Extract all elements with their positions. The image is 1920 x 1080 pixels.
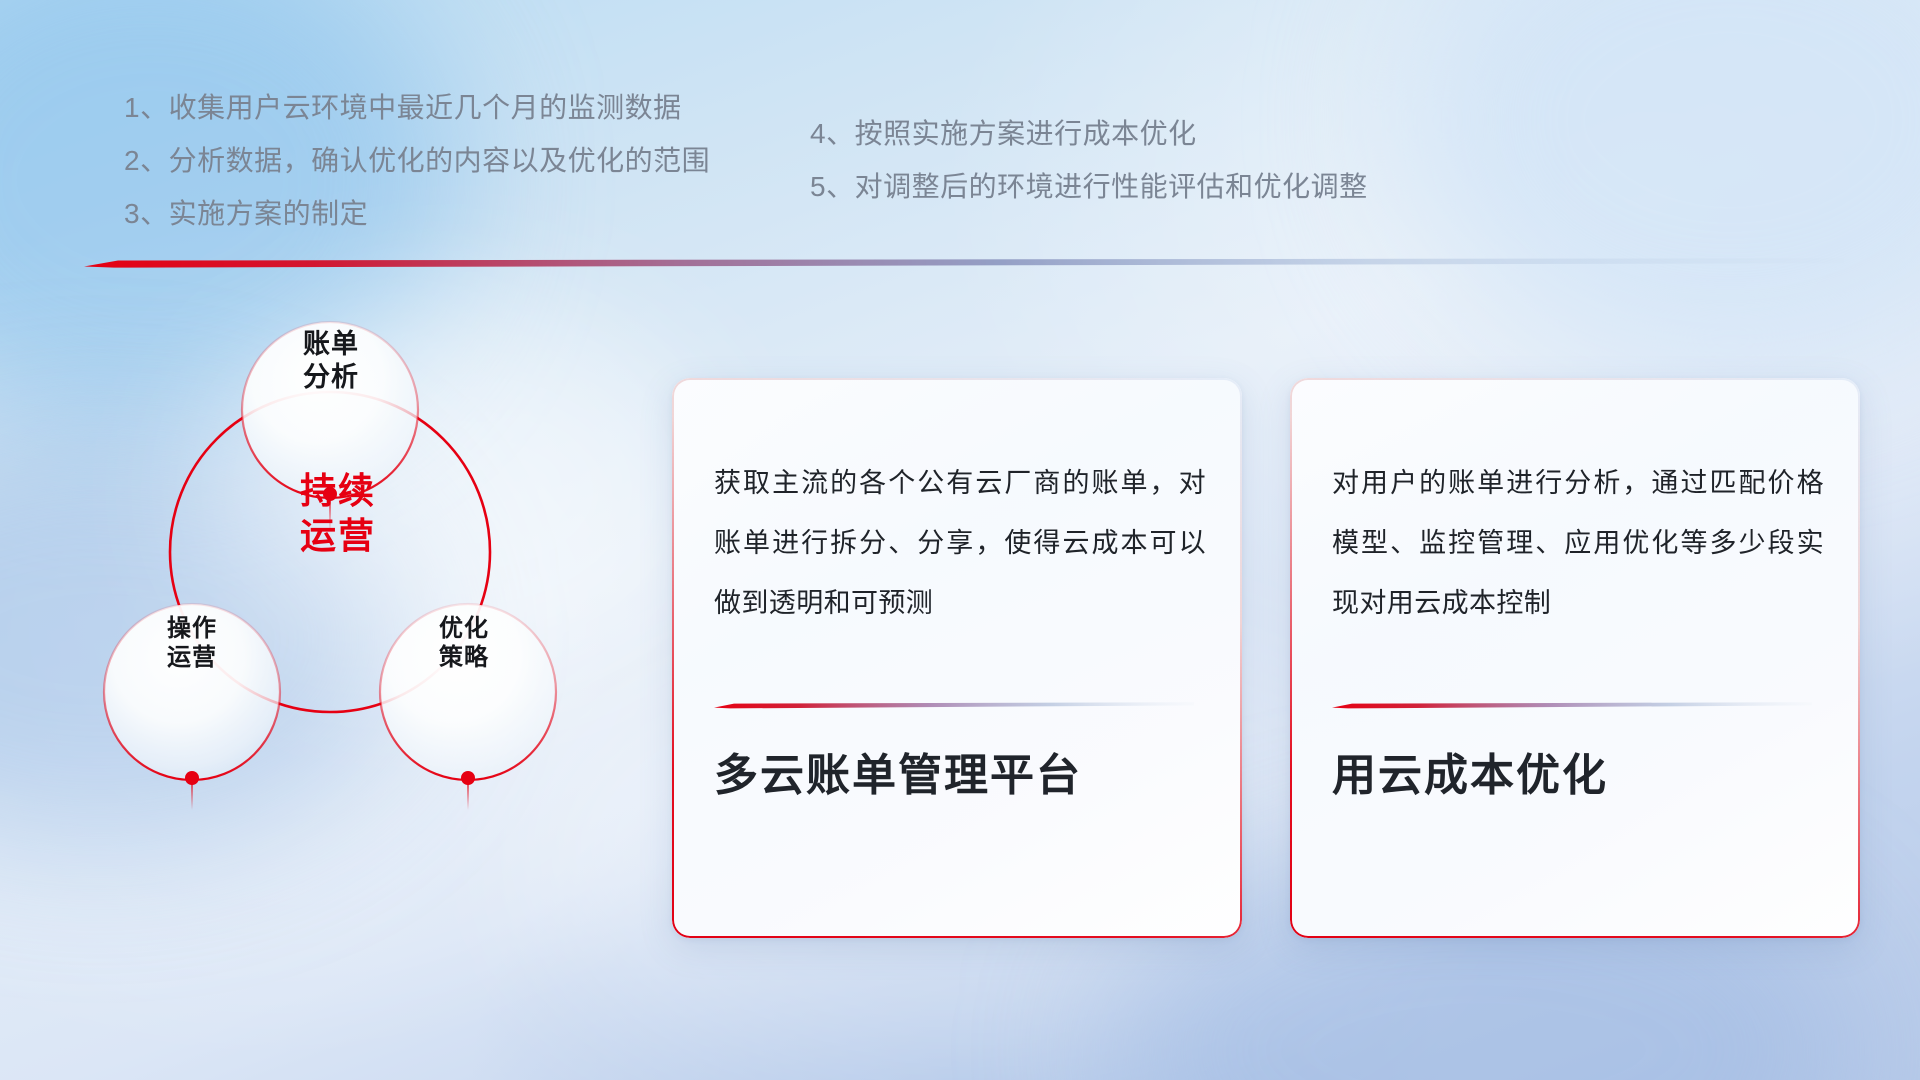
- bubble-label-operations: 操作 运营: [122, 614, 262, 673]
- bubble-label-line: 运营: [122, 643, 262, 672]
- card-rule-shape: [1332, 701, 1812, 709]
- step-item: 4、按照实施方案进行成本优化: [810, 120, 1368, 148]
- card-title: 用云成本优化: [1332, 750, 1830, 803]
- card-rule-shape: [714, 701, 1194, 709]
- bubble-label-line: 操作: [122, 614, 262, 643]
- center-label-line: 运营: [258, 513, 418, 558]
- pin-dot-bottom-right: [461, 771, 475, 785]
- bubble-label-line: 账单: [256, 328, 406, 361]
- step-item: 5、对调整后的环境进行性能评估和优化调整: [810, 173, 1368, 201]
- continuous-operations-diagram: 账单 分析 操作 运营 优化 策略 持续 运营: [80, 280, 640, 800]
- section-divider: [84, 255, 1844, 269]
- divider-shape: [84, 255, 1844, 269]
- card-accent-rule: [1332, 696, 1812, 704]
- card-body-text: 获取主流的各个公有云厂商的账单，对账单进行拆分、分享，使得云成本可以做到透明和可…: [714, 454, 1206, 634]
- pin-dot-bottom-left: [185, 771, 199, 785]
- card-body-text: 对用户的账单进行分析，通过匹配价格模型、监控管理、应用优化等多少段实现对用云成本…: [1332, 454, 1824, 634]
- card-title: 多云账单管理平台: [714, 750, 1212, 803]
- bubble-label-optimization: 优化 策略: [394, 614, 534, 673]
- bubble-label-line: 分析: [256, 361, 406, 394]
- step-item: 2、分析数据，确认优化的内容以及优化的范围: [124, 147, 710, 175]
- card-multi-cloud-billing-platform[interactable]: 获取主流的各个公有云厂商的账单，对账单进行拆分、分享，使得云成本可以做到透明和可…: [672, 378, 1242, 938]
- step-item: 1、收集用户云环境中最近几个月的监测数据: [124, 94, 710, 122]
- bubble-label-line: 优化: [394, 614, 534, 643]
- bubble-label-line: 策略: [394, 643, 534, 672]
- background-blob: [1400, 0, 1920, 380]
- center-label-line: 持续: [258, 468, 418, 513]
- step-item: 3、实施方案的制定: [124, 200, 710, 228]
- diagram-center-label: 持续 运营: [258, 468, 418, 558]
- card-accent-rule: [714, 696, 1194, 704]
- step-list-right: 4、按照实施方案进行成本优化 5、对调整后的环境进行性能评估和优化调整: [810, 120, 1368, 226]
- bubble-label-bill-analysis: 账单 分析: [256, 328, 406, 394]
- step-list-left: 1、收集用户云环境中最近几个月的监测数据 2、分析数据，确认优化的内容以及优化的…: [124, 94, 710, 253]
- card-cloud-cost-optimization[interactable]: 对用户的账单进行分析，通过匹配价格模型、监控管理、应用优化等多少段实现对用云成本…: [1290, 378, 1860, 938]
- slide-canvas: 1、收集用户云环境中最近几个月的监测数据 2、分析数据，确认优化的内容以及优化的…: [0, 0, 1920, 1080]
